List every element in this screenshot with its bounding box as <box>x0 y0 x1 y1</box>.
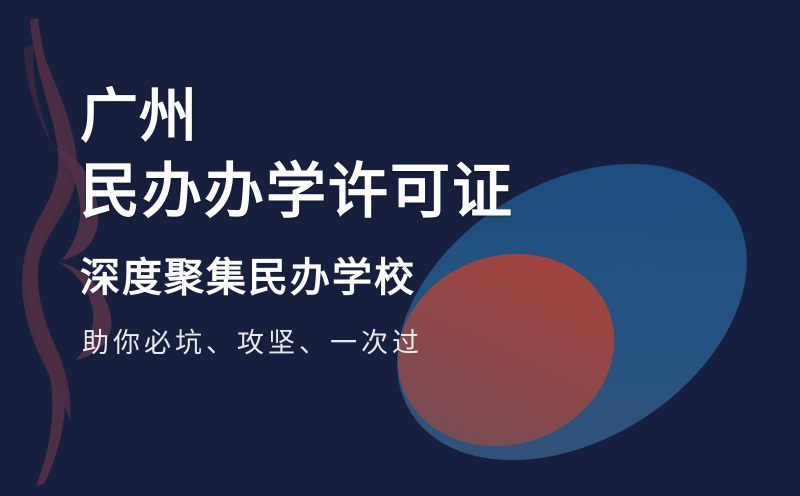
subheadline: 深度聚集民办学校 <box>80 258 416 298</box>
tagline: 助你必坑、攻坚、一次过 <box>82 330 423 357</box>
headline-city: 广州 <box>80 88 198 146</box>
promo-banner: 广州 民办办学许可证 深度聚集民办学校 助你必坑、攻坚、一次过 <box>0 0 800 496</box>
headline-title: 民办办学许可证 <box>80 162 514 222</box>
banner-content: 广州 民办办学许可证 深度聚集民办学校 助你必坑、攻坚、一次过 <box>0 0 800 496</box>
